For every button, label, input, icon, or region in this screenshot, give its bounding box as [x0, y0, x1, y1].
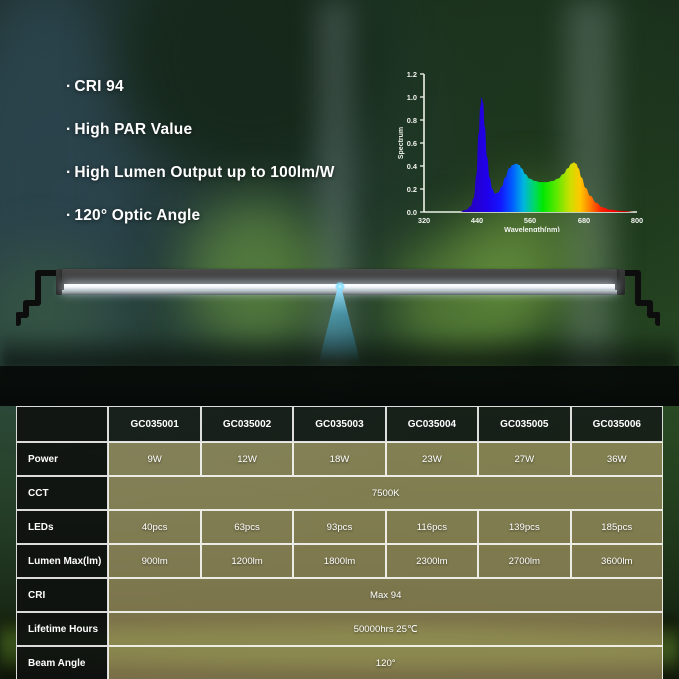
- y-tick: 0.4: [407, 162, 418, 171]
- y-tick: 0.6: [407, 139, 417, 148]
- feature-item: ·CRI 94: [66, 78, 396, 96]
- table-cell: 139pcs: [478, 510, 570, 544]
- x-tick: 560: [524, 216, 536, 225]
- column-header: GC035004: [386, 406, 478, 442]
- y-tick: 0.0: [407, 208, 417, 217]
- y-tick: 1.0: [407, 93, 417, 102]
- table-row: Beam Angle 120°: [16, 646, 663, 679]
- light-beam: [319, 287, 361, 363]
- x-tick: 800: [631, 216, 643, 225]
- feature-list: ·CRI 94 ·High PAR Value ·High Lumen Outp…: [66, 78, 396, 250]
- row-label-cri: CRI: [16, 578, 108, 612]
- column-header: GC035002: [201, 406, 293, 442]
- column-header: GC035005: [478, 406, 570, 442]
- table-cell: 36W: [571, 442, 663, 476]
- feature-label: High PAR Value: [74, 121, 192, 138]
- table-header-row: GC035001 GC035002 GC035003 GC035004 GC03…: [16, 406, 663, 442]
- product-marketing-image: ·CRI 94 ·High PAR Value ·High Lumen Outp…: [0, 0, 679, 679]
- bullet-icon: ·: [66, 164, 71, 181]
- table-cell: 2700lm: [478, 544, 570, 578]
- table-cell: 18W: [293, 442, 385, 476]
- column-header: GC035001: [108, 406, 200, 442]
- y-tick: 1.2: [407, 70, 417, 79]
- table-cell: 12W: [201, 442, 293, 476]
- table-row: Power 9W 12W 18W 23W 27W 36W: [16, 442, 663, 476]
- table-cell: 185pcs: [571, 510, 663, 544]
- chart-x-ticklabels: 320 440 560 680 800: [418, 216, 643, 225]
- column-header: GC035003: [293, 406, 385, 442]
- feature-label: 120° Optic Angle: [74, 207, 200, 224]
- x-tick: 440: [471, 216, 483, 225]
- x-tick: 320: [418, 216, 430, 225]
- column-header: GC035006: [571, 406, 663, 442]
- table-cell-merged: Max 94: [108, 578, 663, 612]
- bullet-icon: ·: [66, 207, 71, 224]
- row-label-beam-angle: Beam Angle: [16, 646, 108, 679]
- feature-label: CRI 94: [74, 78, 123, 95]
- y-tick: 0.2: [407, 185, 417, 194]
- spectrum-chart: 1.2 1.0 0.8 0.6 0.4 0.2 0.0 320 440 560 …: [392, 62, 648, 232]
- table-cell: 63pcs: [201, 510, 293, 544]
- y-tick: 0.8: [407, 116, 417, 125]
- table-cell: 116pcs: [386, 510, 478, 544]
- x-tick: 680: [578, 216, 590, 225]
- y-axis-title: Spectrum: [398, 127, 405, 159]
- bullet-icon: ·: [66, 121, 71, 138]
- table-row: CCT 7500K: [16, 476, 663, 510]
- table-cell: 27W: [478, 442, 570, 476]
- spec-table: GC035001 GC035002 GC035003 GC035004 GC03…: [16, 406, 663, 679]
- table-cell: 1800lm: [293, 544, 385, 578]
- light-beam-source-dot: [335, 282, 344, 291]
- feature-item: ·High Lumen Output up to 100lm/W: [66, 164, 396, 182]
- table-cell: 3600lm: [571, 544, 663, 578]
- specification-table: GC035001 GC035002 GC035003 GC035004 GC03…: [16, 406, 663, 679]
- table-cell: 2300lm: [386, 544, 478, 578]
- table-cell: 93pcs: [293, 510, 385, 544]
- feature-item: ·High PAR Value: [66, 121, 396, 139]
- table-cell: 40pcs: [108, 510, 200, 544]
- feature-item: ·120° Optic Angle: [66, 207, 396, 225]
- table-cell: 23W: [386, 442, 478, 476]
- table-row: CRI Max 94: [16, 578, 663, 612]
- row-label-power: Power: [16, 442, 108, 476]
- aquarium-led-light-bar: [0, 255, 679, 365]
- chart-y-ticklabels: 1.2 1.0 0.8 0.6 0.4 0.2 0.0: [407, 70, 418, 217]
- feature-label: High Lumen Output up to 100lm/W: [74, 164, 334, 181]
- row-label-lifetime-hours: Lifetime Hours: [16, 612, 108, 646]
- table-row: Lumen Max(lm) 900lm 1200lm 1800lm 2300lm…: [16, 544, 663, 578]
- spectrum-area: [460, 97, 638, 212]
- bg-dark-band: [0, 366, 679, 406]
- row-label-cct: CCT: [16, 476, 108, 510]
- table-cell: 900lm: [108, 544, 200, 578]
- x-axis-title: Wavelength(nm): [504, 225, 560, 232]
- table-cell-merged: 50000hrs 25℃: [108, 612, 663, 646]
- table-corner-cell: [16, 406, 108, 442]
- row-label-lumen-max: Lumen Max(lm): [16, 544, 108, 578]
- row-label-leds: LEDs: [16, 510, 108, 544]
- bullet-icon: ·: [66, 78, 71, 95]
- table-cell: 9W: [108, 442, 200, 476]
- table-cell-merged: 120°: [108, 646, 663, 679]
- spectrum-chart-svg: 1.2 1.0 0.8 0.6 0.4 0.2 0.0 320 440 560 …: [392, 62, 648, 232]
- table-cell: 1200lm: [201, 544, 293, 578]
- table-row: LEDs 40pcs 63pcs 93pcs 116pcs 139pcs 185…: [16, 510, 663, 544]
- table-row: Lifetime Hours 50000hrs 25℃: [16, 612, 663, 646]
- table-cell-merged: 7500K: [108, 476, 663, 510]
